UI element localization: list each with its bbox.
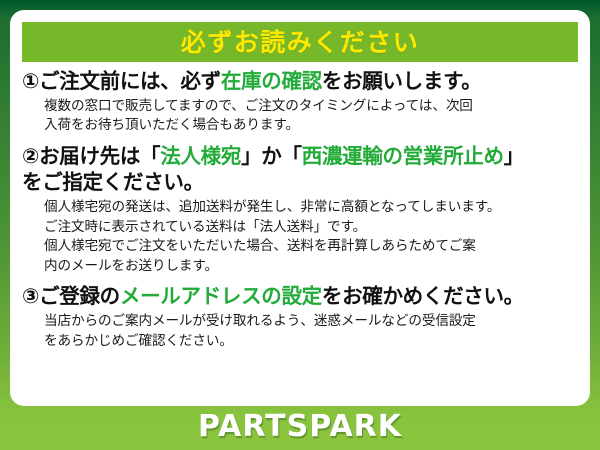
heading-text: ご注文前には、必ず xyxy=(39,69,221,93)
notice-item-heading: ①ご注文前には、必ず在庫の確認をお願いします。 xyxy=(22,68,580,95)
notice-item: ②お届け先は「法人様宛」か「西濃運輸の営業所止め」 をご指定ください。個人様宅宛… xyxy=(22,143,580,277)
notice-item-body: 複数の窓口で販売してますので、ご注文のタイミングによっては、次回 入荷をお待ち頂… xyxy=(22,97,580,136)
heading-highlight: 法人様宛 xyxy=(160,144,241,168)
heading-highlight: 在庫の確認 xyxy=(221,69,322,93)
notice-item-heading: ②お届け先は「法人様宛」か「西濃運輸の営業所止め」 をご指定ください。 xyxy=(22,143,580,196)
notice-banner: 必ずお読みください ①ご注文前には、必ず在庫の確認をお願いします。複数の窓口で販… xyxy=(0,0,600,450)
page-title: 必ずお読みください xyxy=(181,30,420,55)
notice-item-body: 当店からのご案内メールが受け取れるよう、迷惑メールなどの受信設定 をあらかじめご… xyxy=(22,312,580,351)
notice-item-marker: ② xyxy=(22,144,39,168)
notice-item-heading: ③ご登録のメールアドレスの設定をお確かめください。 xyxy=(22,283,580,310)
footer-brand-band: PARTSPARK xyxy=(0,404,600,450)
heading-text: 」か「 xyxy=(241,144,302,168)
notice-item: ①ご注文前には、必ず在庫の確認をお願いします。複数の窓口で販売してますので、ご注… xyxy=(22,68,580,136)
notice-item-body: 個人様宅宛の発送は、追加送料が発生し、非常に高額となってしまいます。 ご注文時に… xyxy=(22,198,580,276)
heading-highlight: 西濃運輸の営業所止め xyxy=(302,144,504,168)
heading-text: お届け先は「 xyxy=(39,144,160,168)
notice-item-marker: ① xyxy=(22,69,39,93)
brand-logo: PARTSPARK xyxy=(198,412,402,442)
header-bar: 必ずお読みください xyxy=(22,22,578,62)
heading-text: をお願いします。 xyxy=(322,69,482,93)
notice-item: ③ご登録のメールアドレスの設定をお確かめください。当店からのご案内メールが受け取… xyxy=(22,283,580,351)
heading-highlight: メールアドレスの設定 xyxy=(120,284,322,308)
heading-text: ご登録の xyxy=(39,284,120,308)
heading-text: をお確かめください。 xyxy=(322,284,524,308)
content-panel: 必ずお読みください ①ご注文前には、必ず在庫の確認をお願いします。複数の窓口で販… xyxy=(10,10,590,406)
notice-item-marker: ③ xyxy=(22,284,39,308)
notice-list: ①ご注文前には、必ず在庫の確認をお願いします。複数の窓口で販売してますので、ご注… xyxy=(10,68,590,358)
